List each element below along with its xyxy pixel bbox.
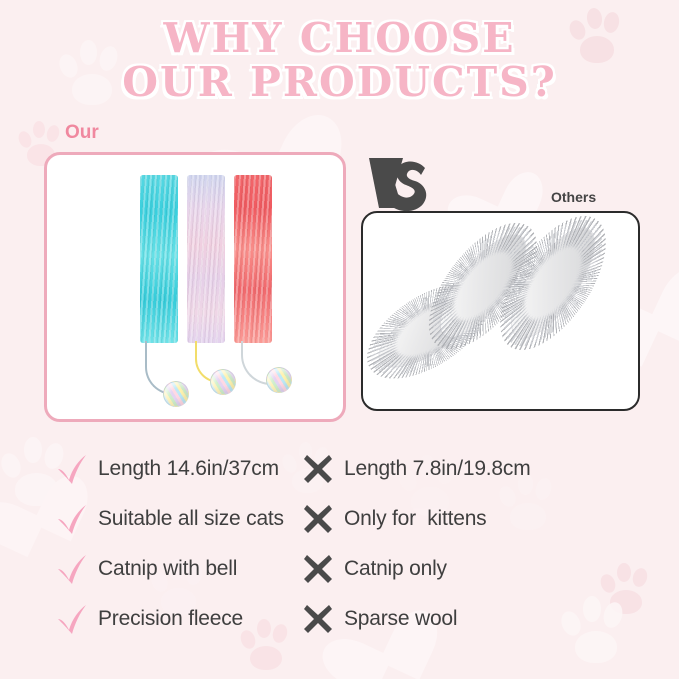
others-panel-label: Others [551, 189, 596, 205]
feature-pro-cell: Precision fleece [0, 602, 300, 636]
our-product-panel [44, 152, 346, 422]
feature-pro-text: Precision fleece [98, 607, 243, 631]
feature-pro-text: Length 14.6in/37cm [98, 457, 279, 481]
feature-row: Suitable all size cats Only for kittens [0, 494, 679, 544]
page-title-line-2: OUR PRODUCTS? [0, 60, 679, 104]
cross-icon [301, 602, 335, 636]
feature-con-text: Sparse wool [344, 607, 457, 631]
toy-bell-ball [210, 369, 236, 395]
product-plush-wand-pastel [187, 175, 225, 343]
feature-con-cell: Only for kittens [300, 502, 679, 536]
feature-row: Catnip with bell Catnip only [0, 544, 679, 594]
feature-row: Precision fleece Sparse wool [0, 594, 679, 644]
check-icon [55, 552, 89, 586]
feature-pro-cell: Catnip with bell [0, 552, 300, 586]
feature-pro-text: Suitable all size cats [98, 507, 284, 531]
vs-badge-icon [367, 156, 433, 214]
page-title-line-1: WHY CHOOSE [0, 16, 679, 60]
check-icon [55, 452, 89, 486]
feature-con-cell: Catnip only [300, 552, 679, 586]
others-product-panel [361, 211, 640, 411]
check-icon [55, 502, 89, 536]
feature-con-text: Catnip only [344, 557, 447, 581]
page-title: WHY CHOOSE OUR PRODUCTS? [0, 16, 679, 105]
feature-con-text: Only for kittens [344, 507, 486, 531]
product-plush-wand-coral [234, 175, 272, 343]
feature-comparison-list: Length 14.6in/37cm Length 7.8in/19.8cm S… [0, 444, 679, 644]
infographic-page: WHY CHOOSE OUR PRODUCTS? Our Others [0, 0, 679, 679]
toy-bell-ball [163, 381, 189, 407]
cross-icon [301, 552, 335, 586]
feature-pro-cell: Suitable all size cats [0, 502, 300, 536]
feature-con-cell: Length 7.8in/19.8cm [300, 452, 679, 486]
feature-pro-text: Catnip with bell [98, 557, 237, 581]
cross-icon [301, 452, 335, 486]
feature-con-cell: Sparse wool [300, 602, 679, 636]
feature-pro-cell: Length 14.6in/37cm [0, 452, 300, 486]
toy-bell-ball [266, 367, 292, 393]
cross-icon [301, 502, 335, 536]
feature-con-text: Length 7.8in/19.8cm [344, 457, 531, 481]
our-panel-label: Our [65, 122, 99, 144]
check-icon [55, 602, 89, 636]
product-plush-wand-cyan [140, 175, 178, 343]
feature-row: Length 14.6in/37cm Length 7.8in/19.8cm [0, 444, 679, 494]
